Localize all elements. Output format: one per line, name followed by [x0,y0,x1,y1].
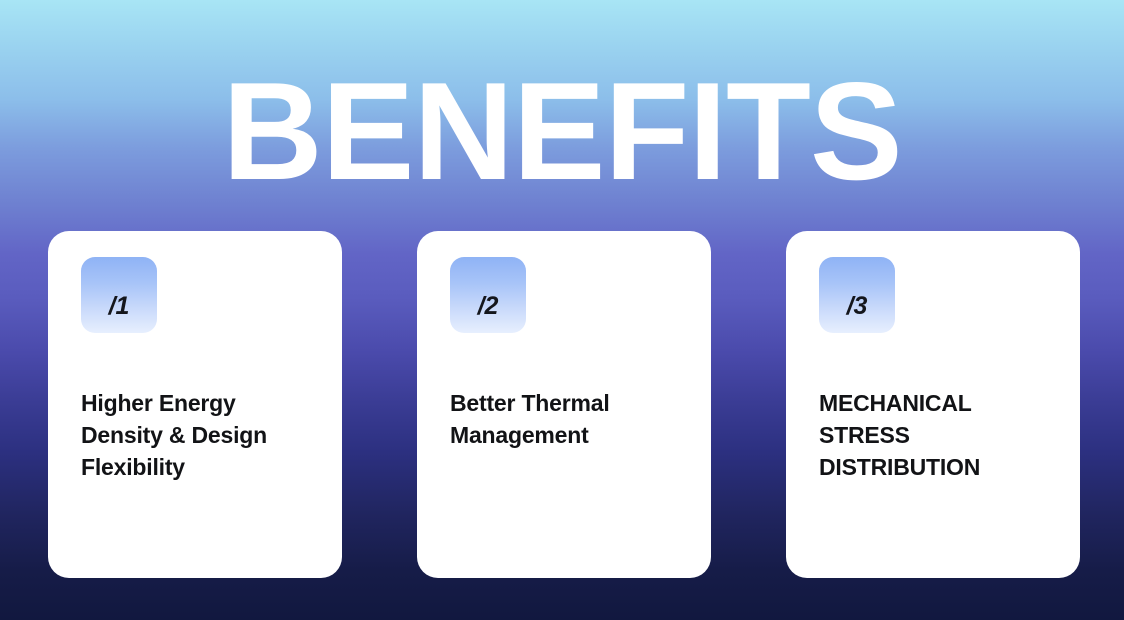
benefit-card-1[interactable]: /1 Higher Energy Density & Design Flexib… [48,231,342,578]
benefit-title-1: Higher Energy Density & Design Flexibili… [81,387,305,484]
benefit-number-badge-1: /1 [81,257,157,333]
benefit-number-label: /2 [478,294,499,319]
benefit-cards-row: /1 Higher Energy Density & Design Flexib… [48,231,1080,578]
benefit-number-label: /3 [847,294,868,319]
benefit-card-2[interactable]: /2 Better Thermal Management [417,231,711,578]
benefit-title-3: MECHANICAL STRESS DISTRIBUTION [819,387,1043,484]
benefit-card-3[interactable]: /3 MECHANICAL STRESS DISTRIBUTION [786,231,1080,578]
page-title: BENEFITS [0,62,1124,201]
benefit-number-label: /1 [109,294,130,319]
benefit-number-badge-2: /2 [450,257,526,333]
benefit-title-2: Better Thermal Management [450,387,674,451]
benefit-number-badge-3: /3 [819,257,895,333]
benefits-slide: BENEFITS /1 Higher Energy Density & Desi… [0,0,1124,620]
